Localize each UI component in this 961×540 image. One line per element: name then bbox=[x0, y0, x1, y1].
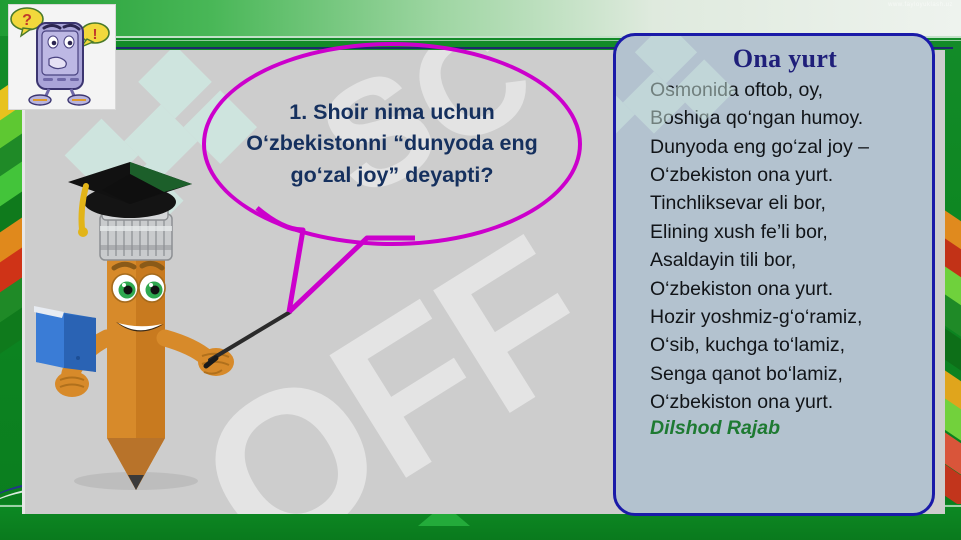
poem-line: O‘zbekiston ona yurt. bbox=[650, 161, 920, 189]
poem-line: Boshiga qo‘ngan humoy. bbox=[650, 104, 920, 132]
book-icon bbox=[34, 306, 107, 397]
poem-line: Osmonida oftob, oy, bbox=[650, 76, 920, 104]
thinking-phone-badge: ? ! bbox=[8, 4, 116, 110]
poem-line: Dunyoda eng go‘zal joy – bbox=[650, 133, 920, 161]
svg-text:!: ! bbox=[93, 26, 98, 43]
question-speech-bubble: 1. Shoir nima uchun O‘zbekistonni “dunyo… bbox=[202, 42, 582, 246]
poem-line: Tinchliksevar eli bor, bbox=[650, 189, 920, 217]
thinking-phone-character-icon: ? ! bbox=[9, 5, 115, 109]
poem-card: Ona yurt Osmonida oftob, oy, Boshiga qo‘… bbox=[613, 33, 935, 516]
svg-text:?: ? bbox=[22, 12, 32, 29]
poem-line: Senga qanot bo‘lamiz, bbox=[650, 360, 920, 388]
poem-line: Hozir yoshmiz-g‘o‘ramiz, bbox=[650, 303, 920, 331]
poem-author: Dilshod Rajab bbox=[650, 417, 920, 440]
poem-line: O‘zbekiston ona yurt. bbox=[650, 275, 920, 303]
poem-line: Asaldayin tili bor, bbox=[650, 246, 920, 274]
poem-lines: Osmonida oftob, oy, Boshiga qo‘ngan humo… bbox=[650, 76, 920, 416]
phone-body-icon bbox=[37, 23, 83, 89]
pointer-stick-icon bbox=[165, 312, 290, 376]
corner-watermark: www.fayloyuklash.uz bbox=[888, 2, 953, 8]
poem-line: O‘zbekiston ona yurt. bbox=[650, 388, 920, 416]
top-green-band bbox=[0, 0, 961, 36]
poem-title: Ona yurt bbox=[650, 44, 920, 74]
poem-line: O‘sib, kuchga to‘lamiz, bbox=[650, 331, 920, 359]
slide: www.fayloyuklash.uz SC OFF ? ! bbox=[0, 0, 961, 540]
question-text: 1. Shoir nima uchun O‘zbekistonni “dunyo… bbox=[206, 97, 578, 191]
poem-line: Elining xush fe’li bor, bbox=[650, 218, 920, 246]
